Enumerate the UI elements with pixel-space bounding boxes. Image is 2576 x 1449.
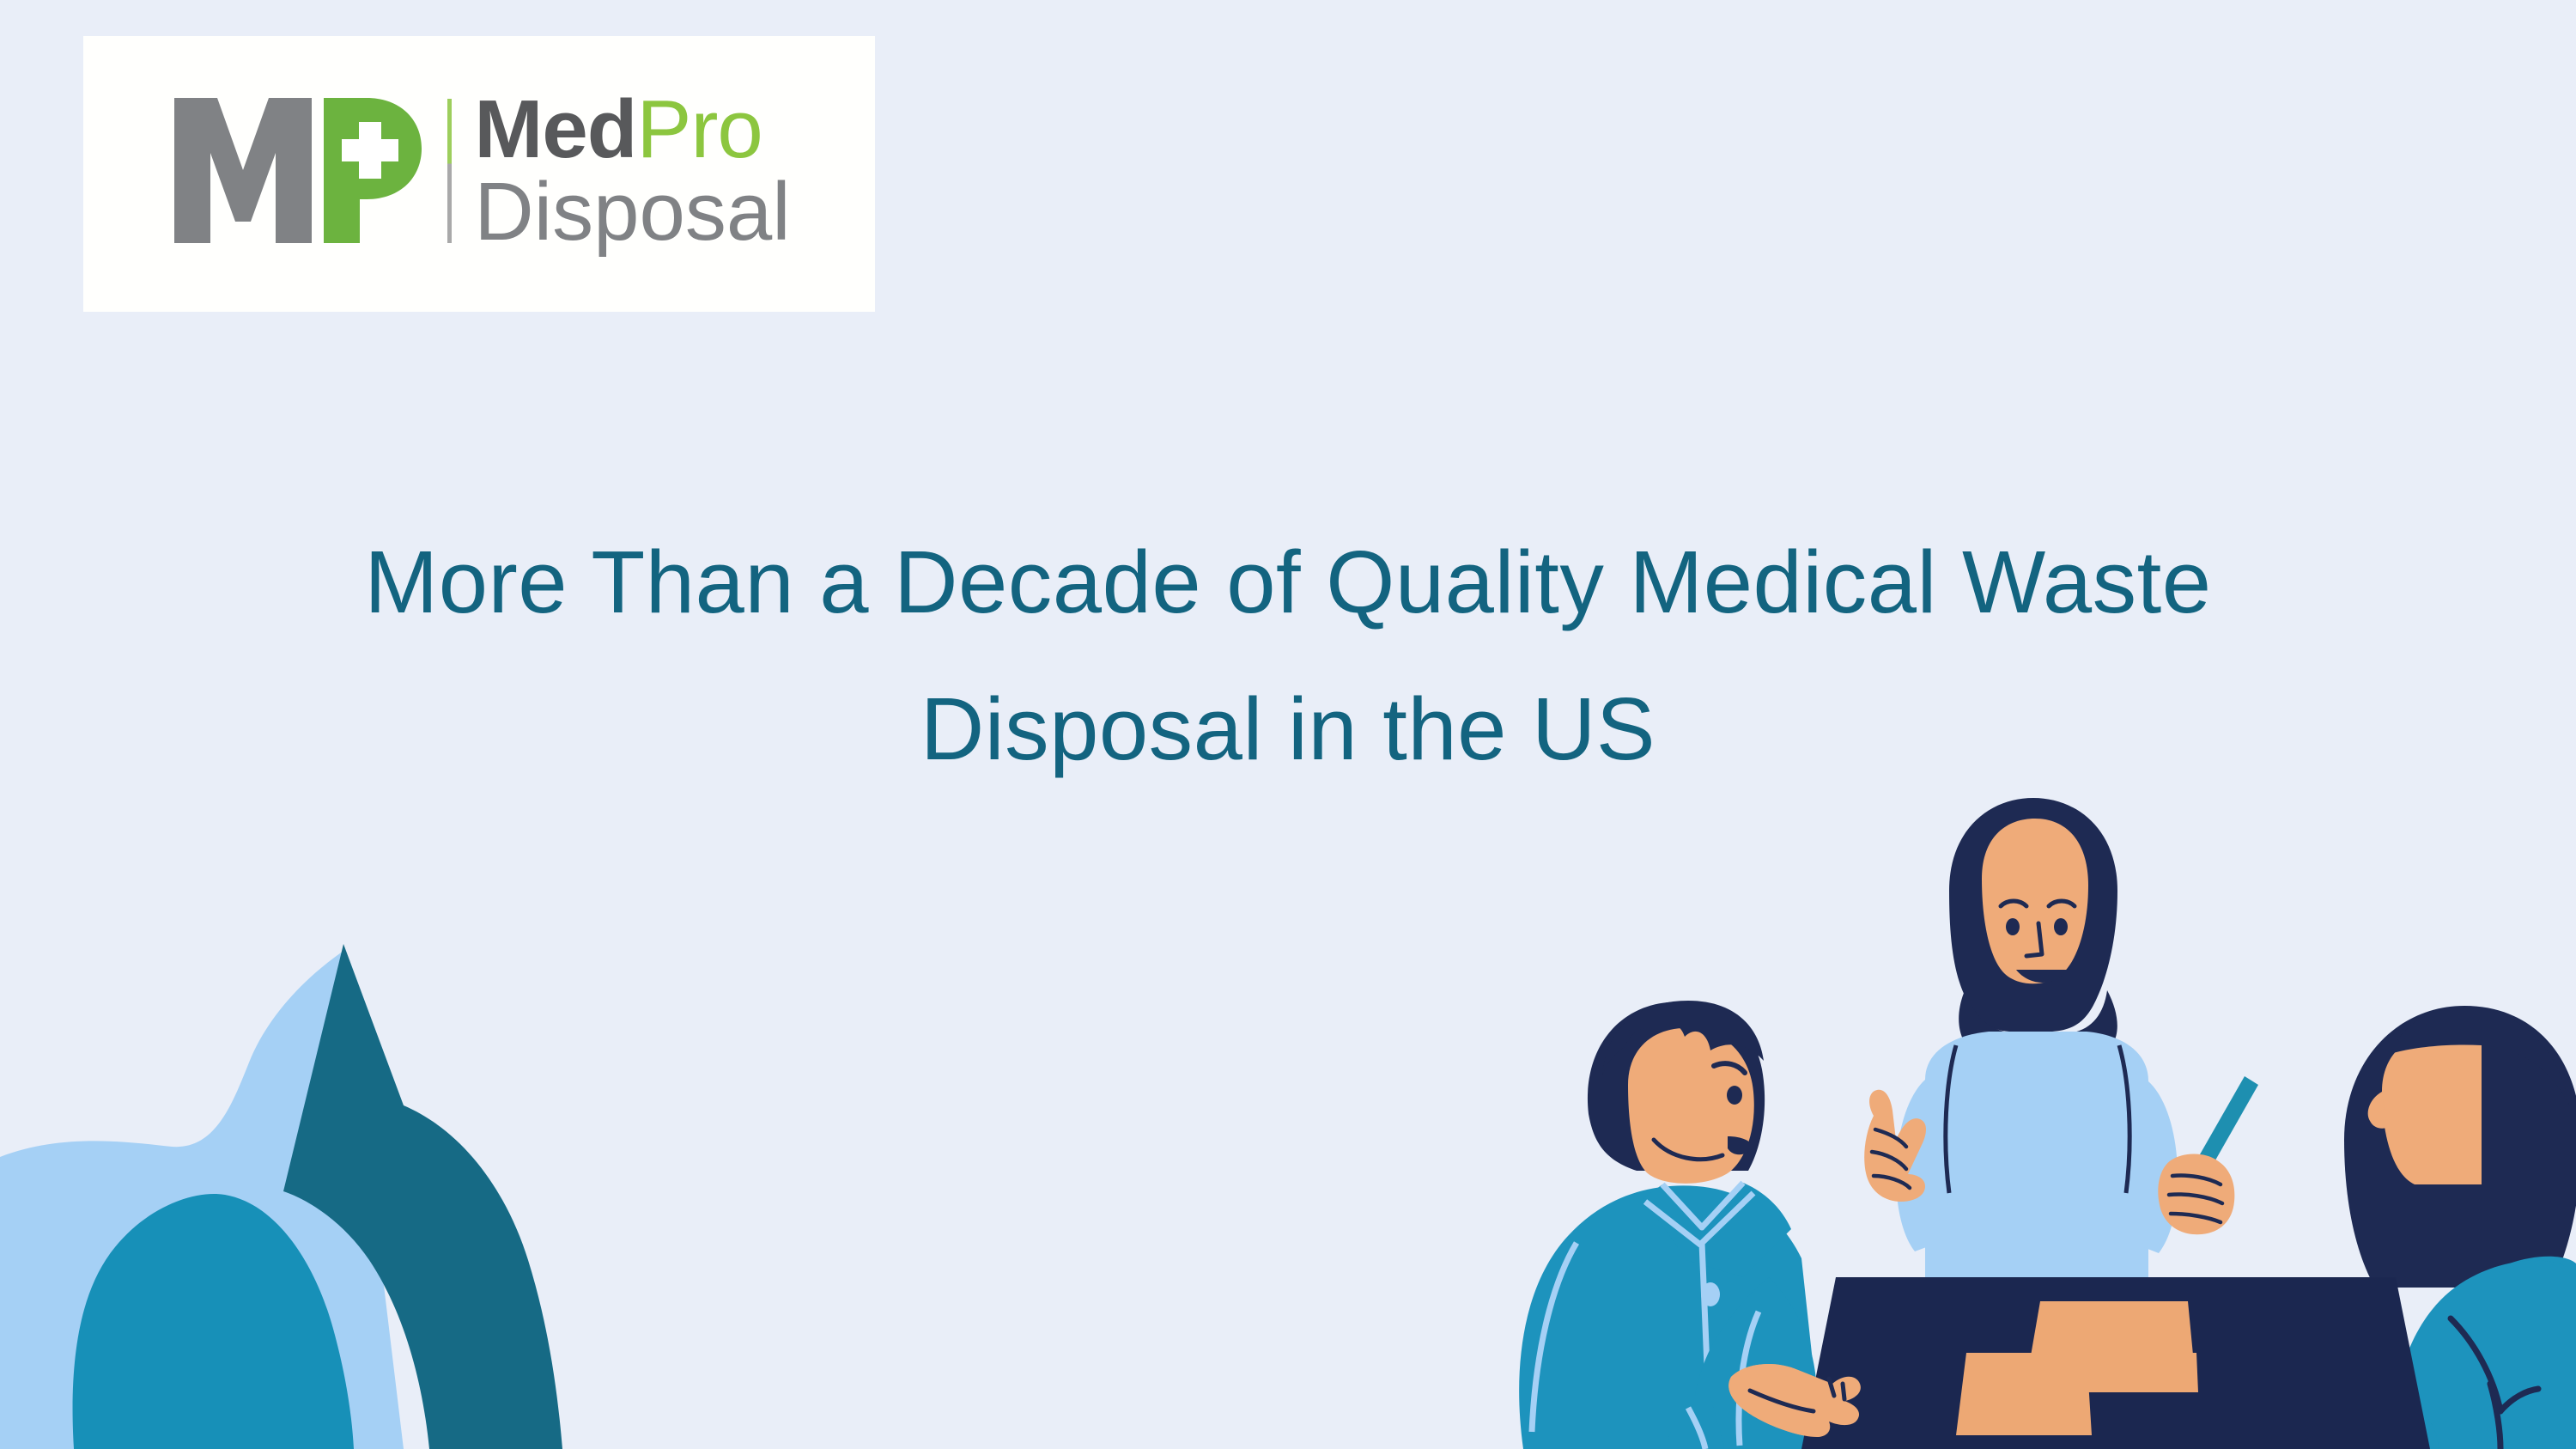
- logo-word-med: Med: [474, 83, 636, 175]
- abstract-blue-shapes-icon: [0, 848, 653, 1449]
- page-title: More Than a Decade of Quality Medical Wa…: [0, 509, 2576, 803]
- standing-woman-hijab: [1864, 798, 2258, 1277]
- meeting-table: [1801, 1277, 2430, 1449]
- logo-word-pro: Pro: [636, 83, 762, 175]
- logo-lockup: MedPro Disposal: [167, 90, 790, 250]
- left-illustration: [0, 848, 653, 1449]
- medpro-monogram-icon: [167, 91, 425, 250]
- logo-card[interactable]: MedPro Disposal: [83, 36, 875, 312]
- logo-wordmark: MedPro Disposal: [474, 90, 790, 250]
- business-meeting-illustration-icon: [1485, 796, 2576, 1449]
- logo-word-disposal: Disposal: [474, 173, 790, 251]
- slide-canvas: MedPro Disposal More Than a Decade of Qu…: [0, 0, 2576, 1449]
- logo-divider: [447, 99, 452, 243]
- right-illustration: [1485, 796, 2576, 1449]
